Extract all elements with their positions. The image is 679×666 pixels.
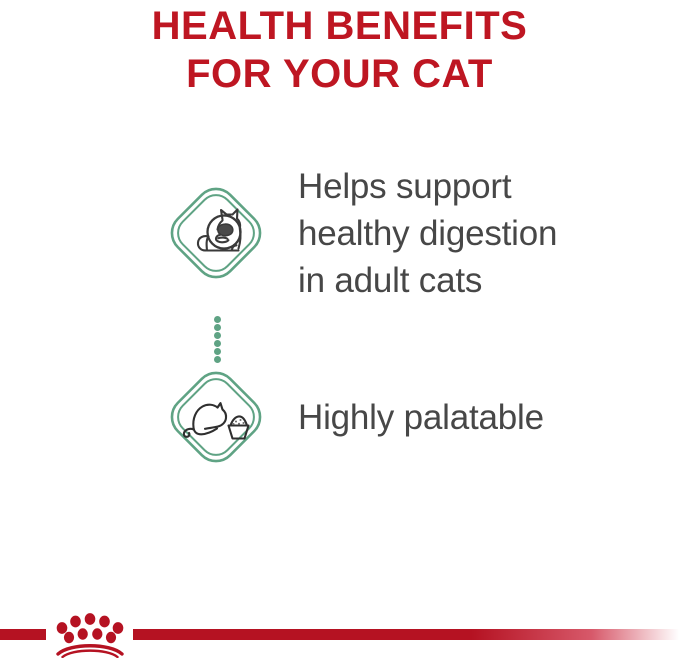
page-title-line-2: FOR YOUR CAT bbox=[0, 50, 679, 98]
cat-eating-bowl-icon bbox=[162, 363, 270, 471]
benefit-item-palatable: Highly palatable bbox=[0, 354, 679, 480]
page-title-line-1: HEALTH BENEFITS bbox=[0, 2, 679, 50]
royal-canin-crown-icon bbox=[48, 610, 132, 658]
footer-rule-right bbox=[133, 629, 679, 640]
connector-dot bbox=[214, 340, 221, 347]
health-benefits-panel: HEALTH BENEFITS FOR YOUR CAT bbox=[0, 0, 679, 666]
benefit-label-palatable: Highly palatable bbox=[298, 394, 544, 441]
benefit-icon-cell bbox=[140, 170, 292, 296]
page-title: HEALTH BENEFITS FOR YOUR CAT bbox=[0, 2, 679, 98]
benefit-icon-cell bbox=[140, 354, 292, 480]
cat-digestion-icon bbox=[162, 179, 270, 287]
connector-dot bbox=[214, 324, 221, 331]
footer-rule-left bbox=[0, 629, 46, 640]
benefit-item-digestion: Helps support healthy digestion in adult… bbox=[0, 168, 679, 298]
connector-dot bbox=[214, 332, 221, 339]
connector-dot bbox=[214, 316, 221, 323]
brand-footer bbox=[0, 606, 679, 666]
benefit-label-digestion: Helps support healthy digestion in adult… bbox=[298, 163, 557, 304]
